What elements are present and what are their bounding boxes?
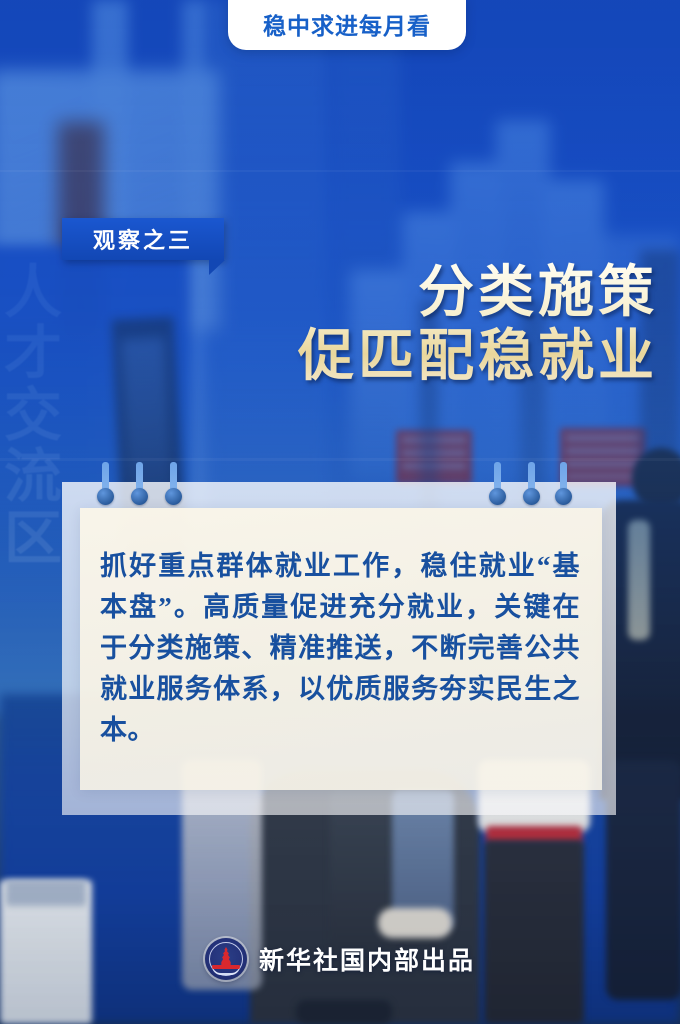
footer-label: 新华社国内部出品	[259, 941, 475, 977]
top-badge-label: 稳中求进每月看	[263, 7, 431, 41]
poster-root: 人 才 交 流 区	[0, 0, 680, 1024]
page-title-line-1: 分类施策	[298, 262, 658, 326]
section-ribbon: 观察之三	[62, 218, 224, 260]
top-badge[interactable]: 稳中求进每月看	[228, 0, 466, 50]
footer: 新华社国内部出品	[0, 938, 680, 980]
note-card-body: 抓好重点群体就业工作，稳住就业“基本盘”。高质量促进充分就业，关键在于分类施策、…	[100, 546, 580, 751]
section-ribbon-label: 观察之三	[93, 223, 193, 255]
page-title-line-2: 促匹配稳就业	[298, 326, 658, 390]
page-title: 分类施策 促匹配稳就业	[298, 262, 658, 390]
xinhua-logo-icon	[205, 938, 247, 980]
